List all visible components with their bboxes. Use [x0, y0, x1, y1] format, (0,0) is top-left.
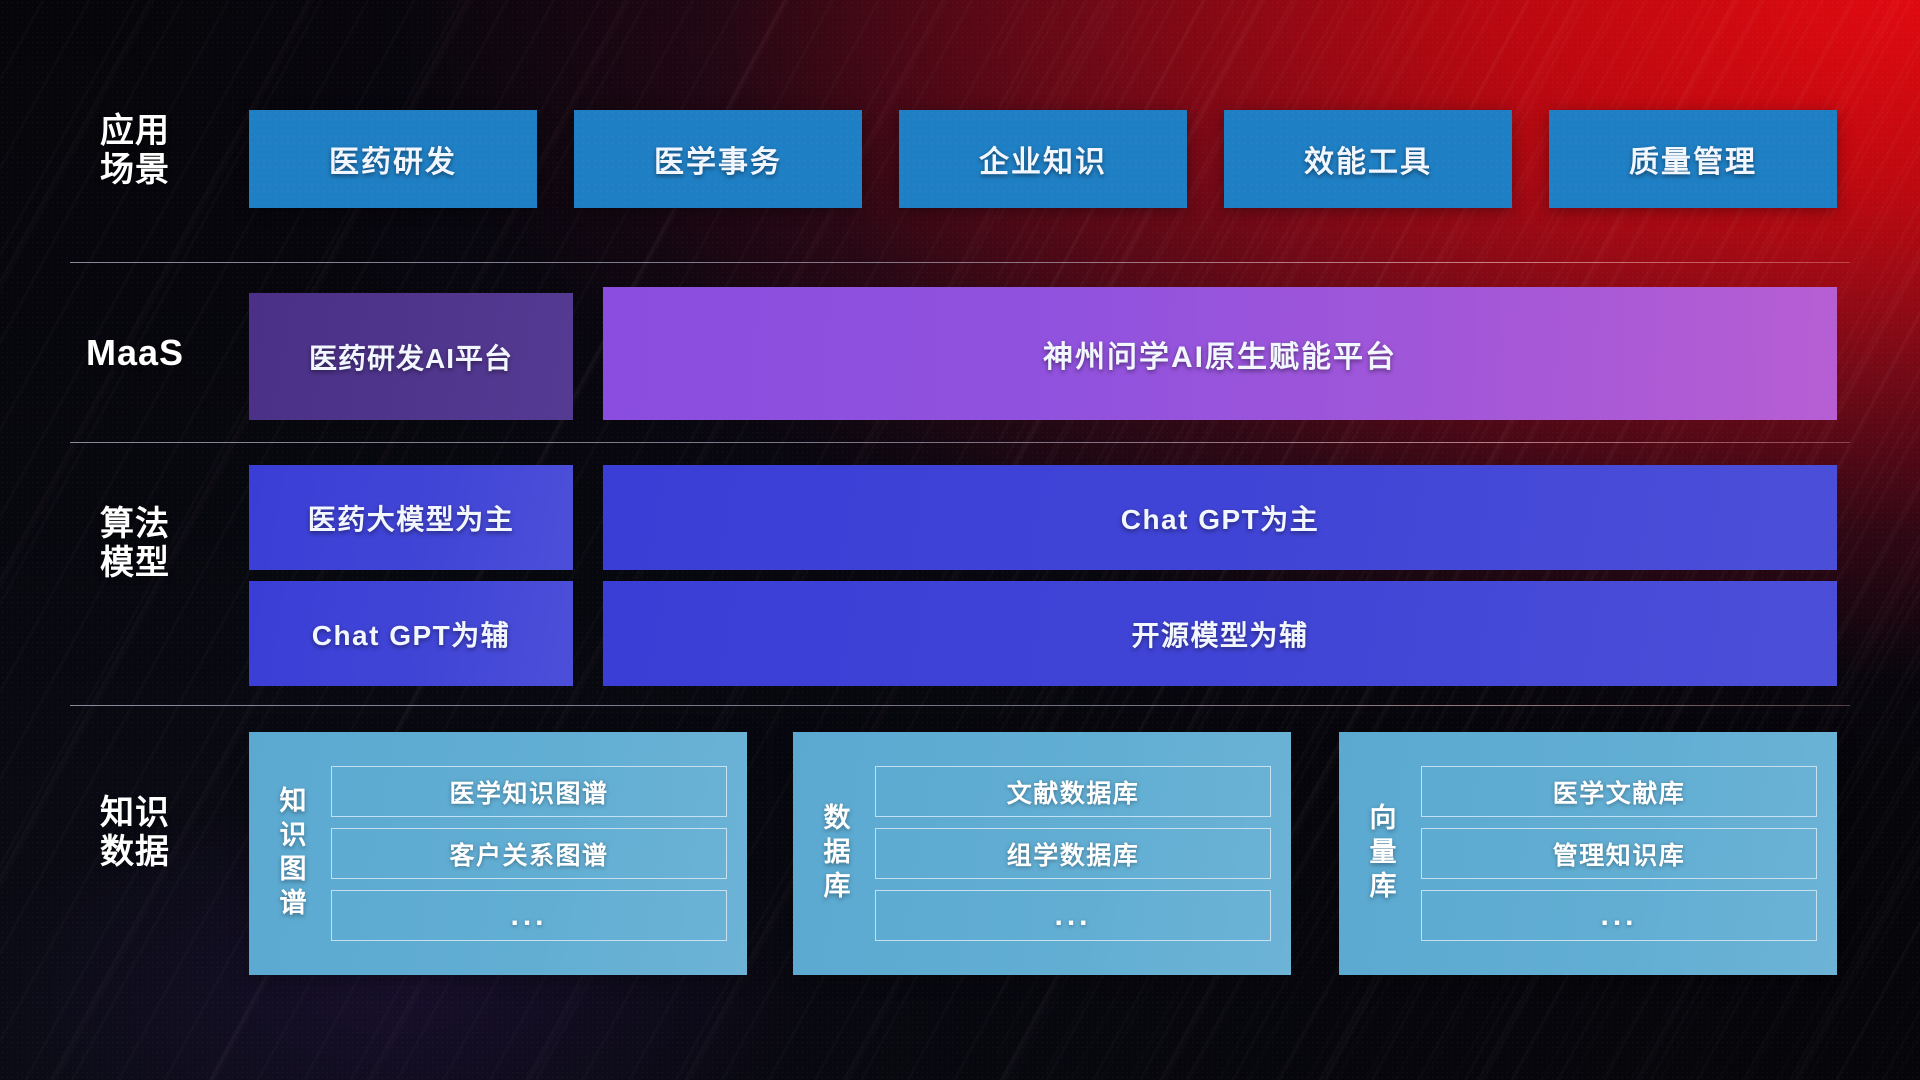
knowledge-panel-vertical-label: 知识图谱: [267, 748, 313, 959]
knowledge-chip[interactable]: 医学文献库: [1421, 766, 1817, 817]
app-scenario-box-drug-rd[interactable]: 医药研发: [249, 110, 537, 208]
app-scenario-box-medical-affairs[interactable]: 医学事务: [574, 110, 862, 208]
knowledge-panel-vector-store[interactable]: 向量库 医学文献库 管理知识库 ...: [1339, 732, 1837, 975]
knowledge-chip[interactable]: 客户关系图谱: [331, 828, 727, 879]
knowledge-panel-vertical-label: 数据库: [811, 748, 857, 959]
row-label-line: 知识: [70, 794, 200, 833]
knowledge-chip-more[interactable]: ...: [331, 890, 727, 941]
row-label-line: 场景: [70, 151, 200, 190]
row-label-knowledge-data: 知识 数据: [70, 794, 200, 873]
divider-after-algorithm-model: [70, 705, 1850, 706]
knowledge-chip[interactable]: 文献数据库: [875, 766, 1271, 817]
row-label-application-scenarios: 应用 场景: [70, 112, 200, 191]
maas-box-shenzhou-wenxue-platform[interactable]: 神州问学AI原生赋能平台: [603, 287, 1837, 420]
maas-box-drug-rd-ai-platform[interactable]: 医药研发AI平台: [249, 293, 573, 420]
knowledge-chip[interactable]: 管理知识库: [1421, 828, 1817, 879]
row-label-line: 模型: [70, 544, 200, 583]
algorithm-box-chatgpt-primary[interactable]: Chat GPT为主: [603, 465, 1837, 570]
knowledge-panel-vertical-label: 向量库: [1357, 748, 1403, 959]
row-label-line: 数据: [70, 833, 200, 872]
divider-after-application-scenarios: [70, 262, 1850, 263]
row-label-algorithm-model: 算法 模型: [70, 505, 200, 584]
app-scenario-box-enterprise-knowledge[interactable]: 企业知识: [899, 110, 1187, 208]
knowledge-chip-list: 文献数据库 组学数据库 ...: [875, 766, 1271, 941]
app-scenario-box-quality-management[interactable]: 质量管理: [1549, 110, 1837, 208]
algorithm-box-pharma-llm-primary[interactable]: 医药大模型为主: [249, 465, 573, 570]
knowledge-panel-knowledge-graph[interactable]: 知识图谱 医学知识图谱 客户关系图谱 ...: [249, 732, 747, 975]
knowledge-chip-more[interactable]: ...: [875, 890, 1271, 941]
row-label-line: 应用: [70, 112, 200, 151]
knowledge-chip[interactable]: 医学知识图谱: [331, 766, 727, 817]
knowledge-panel-database[interactable]: 数据库 文献数据库 组学数据库 ...: [793, 732, 1291, 975]
divider-after-maas: [70, 442, 1850, 443]
knowledge-chip[interactable]: 组学数据库: [875, 828, 1271, 879]
algorithm-box-opensource-secondary[interactable]: 开源模型为辅: [603, 581, 1837, 686]
row-label-line: 算法: [70, 505, 200, 544]
algorithm-box-chatgpt-secondary[interactable]: Chat GPT为辅: [249, 581, 573, 686]
knowledge-chip-list: 医学文献库 管理知识库 ...: [1421, 766, 1817, 941]
row-label-line: MaaS: [70, 332, 200, 374]
knowledge-chip-list: 医学知识图谱 客户关系图谱 ...: [331, 766, 727, 941]
row-label-maas: MaaS: [70, 332, 200, 374]
slide-canvas: 应用 场景 医药研发 医学事务 企业知识 效能工具 质量管理 MaaS 医药研发…: [0, 0, 1920, 1080]
knowledge-chip-more[interactable]: ...: [1421, 890, 1817, 941]
app-scenario-box-efficiency-tools[interactable]: 效能工具: [1224, 110, 1512, 208]
